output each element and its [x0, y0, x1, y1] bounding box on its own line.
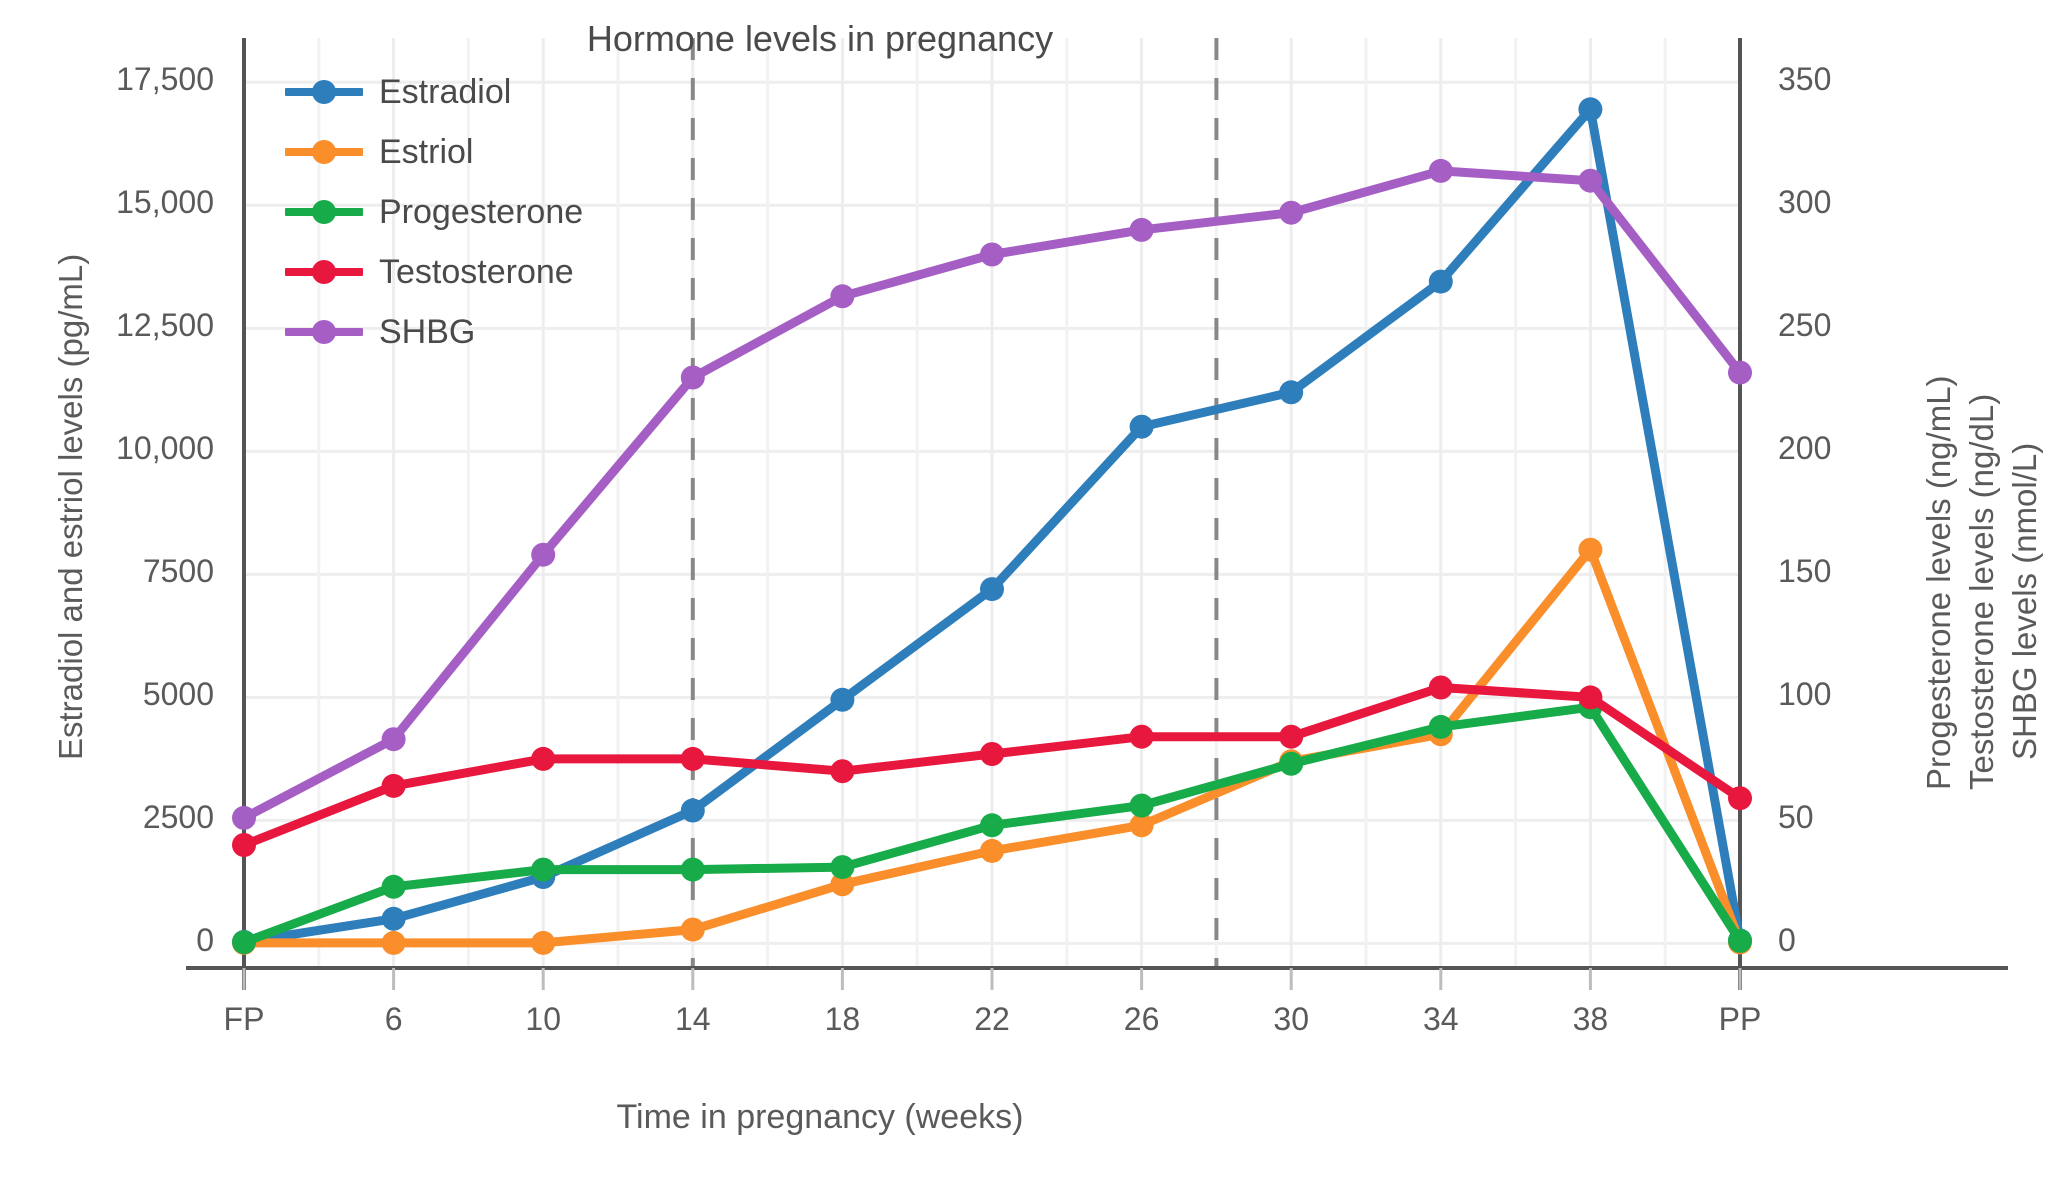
data-point [1130, 725, 1154, 749]
chart-legend: EstradiolEstriolProgesteroneTestosterone… [285, 62, 615, 362]
legend-item-estradiol[interactable]: Estradiol [285, 62, 615, 122]
chart-title: Hormone levels in pregnancy [560, 18, 1080, 60]
data-point [681, 918, 705, 942]
data-point [830, 759, 854, 783]
x-tick-label: 34 [1381, 1001, 1501, 1038]
data-point [531, 931, 555, 955]
y-tick-label-right: 200 [1778, 430, 1938, 467]
legend-swatch-icon [285, 76, 363, 108]
x-tick-label: 6 [334, 1001, 454, 1038]
y-tick-label-right: 350 [1778, 61, 1938, 98]
data-point [830, 855, 854, 879]
legend-label: Progesterone [379, 193, 583, 232]
x-tick-label: 38 [1530, 1001, 1650, 1038]
data-point [1279, 752, 1303, 776]
data-point [1578, 685, 1602, 709]
y-tick-label-right: 300 [1778, 184, 1938, 221]
data-point [681, 858, 705, 882]
y-tick-label-left: 10,000 [54, 430, 214, 467]
legend-label: SHBG [379, 313, 475, 352]
data-point [382, 774, 406, 798]
data-point [1279, 725, 1303, 749]
legend-item-testosterone[interactable]: Testosterone [285, 242, 615, 302]
data-point [232, 930, 256, 954]
data-point [1429, 159, 1453, 183]
legend-swatch-icon [285, 136, 363, 168]
y-tick-label-left: 5000 [54, 676, 214, 713]
data-point [382, 931, 406, 955]
data-point [1728, 361, 1752, 385]
x-tick-label: 18 [782, 1001, 902, 1038]
chart-figure: Hormone levels in pregnancy Estradiol an… [0, 0, 2048, 1196]
x-tick-label: 26 [1082, 1001, 1202, 1038]
data-point [1130, 794, 1154, 818]
y-tick-label-left: 12,500 [54, 307, 214, 344]
data-point [980, 577, 1004, 601]
data-point [980, 813, 1004, 837]
data-point [681, 747, 705, 771]
x-axis-title: Time in pregnancy (weeks) [320, 1098, 1320, 1137]
x-tick-label: FP [184, 1001, 304, 1038]
data-point [1728, 786, 1752, 810]
data-point [1429, 270, 1453, 294]
data-point [830, 688, 854, 712]
x-tick-label: 22 [932, 1001, 1052, 1038]
data-point [382, 907, 406, 931]
legend-label: Testosterone [379, 253, 574, 292]
legend-swatch-icon [285, 316, 363, 348]
data-point [1578, 97, 1602, 121]
legend-label: Estradiol [379, 73, 511, 112]
y-tick-label-right: 150 [1778, 553, 1938, 590]
legend-label: Estriol [379, 133, 473, 172]
data-point [980, 742, 1004, 766]
y-tick-label-left: 0 [54, 922, 214, 959]
data-point [1429, 715, 1453, 739]
y-tick-label-right: 100 [1778, 676, 1938, 713]
legend-swatch-icon [285, 256, 363, 288]
data-point [1130, 218, 1154, 242]
data-point [232, 806, 256, 830]
y-tick-label-right: 250 [1778, 307, 1938, 344]
y-tick-label-left: 7500 [54, 553, 214, 590]
data-point [1728, 929, 1752, 953]
data-point [531, 747, 555, 771]
data-point [1429, 676, 1453, 700]
data-point [681, 366, 705, 390]
data-point [531, 858, 555, 882]
data-point [531, 543, 555, 567]
x-tick-marks [244, 968, 1740, 990]
data-point [1578, 538, 1602, 562]
y-tick-label-right: 50 [1778, 799, 1938, 836]
data-point [980, 839, 1004, 863]
x-tick-label: 10 [483, 1001, 603, 1038]
legend-item-estriol[interactable]: Estriol [285, 122, 615, 182]
data-point [382, 875, 406, 899]
data-point [830, 284, 854, 308]
data-point [1279, 201, 1303, 225]
data-point [1578, 169, 1602, 193]
data-point [980, 243, 1004, 267]
y-tick-label-left: 15,000 [54, 184, 214, 221]
y-tick-label-left: 2500 [54, 799, 214, 836]
legend-item-shbg[interactable]: SHBG [285, 302, 615, 362]
legend-swatch-icon [285, 196, 363, 228]
x-tick-label: 14 [633, 1001, 753, 1038]
data-point [1130, 415, 1154, 439]
data-point [232, 833, 256, 857]
x-tick-label: PP [1680, 1001, 1800, 1038]
data-point [1279, 380, 1303, 404]
legend-item-progesterone[interactable]: Progesterone [285, 182, 615, 242]
y-tick-label-right: 0 [1778, 922, 1938, 959]
data-point [382, 727, 406, 751]
y-axis-right-title-shbg: SHBG levels (nmol/L) [2006, 443, 2044, 760]
data-point [681, 799, 705, 823]
x-tick-label: 30 [1231, 1001, 1351, 1038]
y-axis-right-title-testosterone: Testosterone levels (ng/dL) [1963, 394, 2001, 790]
y-tick-label-left: 17,500 [54, 61, 214, 98]
